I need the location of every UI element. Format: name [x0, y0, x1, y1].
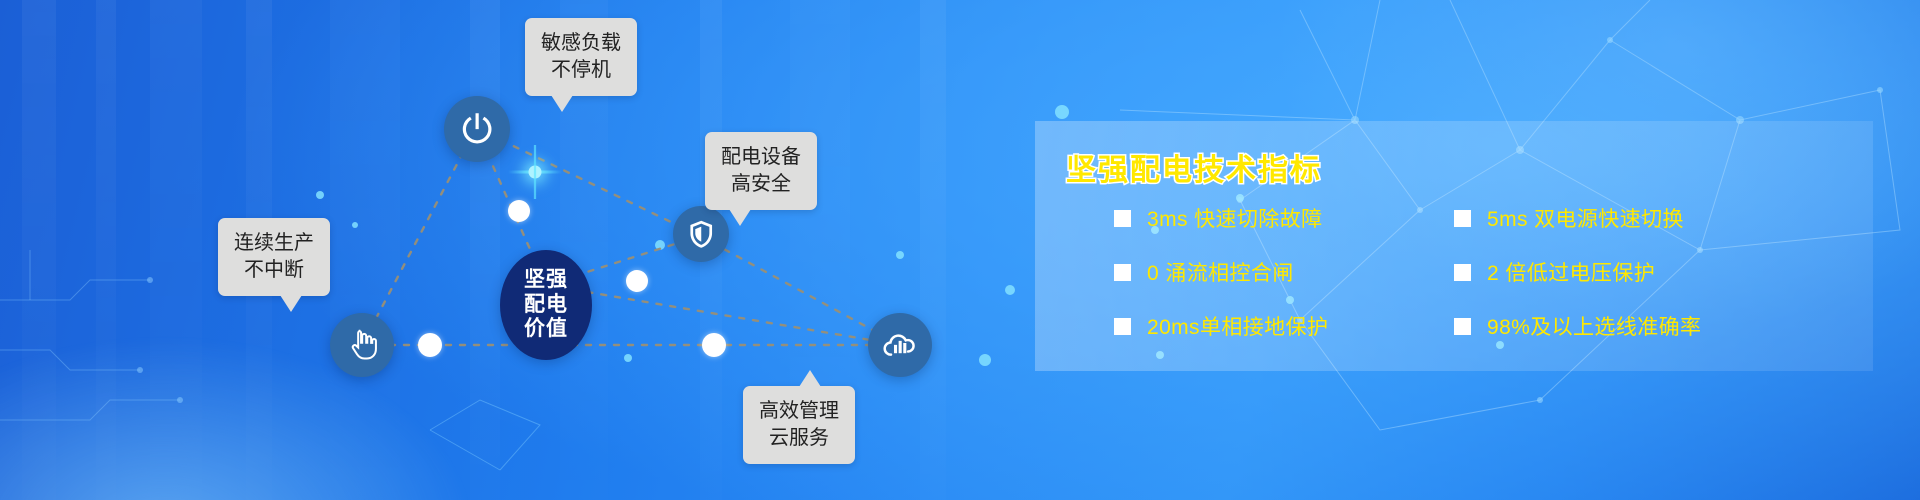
link-dot — [508, 200, 530, 222]
callout-line1: 高效管理 — [759, 398, 839, 425]
callout-equipment-safety: 配电设备 高安全 — [705, 132, 817, 210]
shield-icon — [685, 218, 717, 250]
indicator-label: 2 倍低过电压保护 — [1487, 257, 1655, 287]
link-dot — [418, 333, 442, 357]
cloud-chart-icon — [881, 326, 918, 363]
indicator-label: 20ms单相接地保护 — [1147, 311, 1328, 341]
power-icon — [458, 110, 496, 148]
callout-sensitive-load: 敏感负载 不停机 — [525, 18, 637, 96]
indicator-item: 0 涌流相控合闸 — [1114, 257, 1454, 287]
indicator-label: 5ms 双电源快速切换 — [1487, 203, 1684, 233]
indicator-item: 20ms单相接地保护 — [1114, 311, 1454, 341]
indicator-label: 98%及以上选线准确率 — [1487, 311, 1701, 341]
center-node-label: 坚强配电价值 — [524, 268, 568, 342]
callout-line1: 连续生产 — [234, 230, 314, 257]
indicator-item: 5ms 双电源快速切换 — [1454, 203, 1863, 233]
indicator-item: 2 倍低过电压保护 — [1454, 257, 1863, 287]
bullet-square-icon — [1454, 264, 1471, 281]
node-cloud-chart[interactable] — [868, 313, 932, 377]
indicator-item: 98%及以上选线准确率 — [1454, 311, 1863, 341]
bullet-square-icon — [1114, 264, 1131, 281]
callout-line1: 敏感负载 — [541, 30, 621, 57]
node-power[interactable] — [444, 96, 510, 162]
bullet-square-icon — [1454, 318, 1471, 335]
sparkle-icon — [508, 145, 562, 199]
bullet-square-icon — [1454, 210, 1471, 227]
panel-title: 坚强配电技术指标 — [1066, 145, 1322, 189]
indicator-list: 3ms 快速切除故障 5ms 双电源快速切换 0 涌流相控合闸 2 倍低过电压保… — [1114, 203, 1863, 341]
bullet-square-icon — [1114, 318, 1131, 335]
callout-line2: 云服务 — [759, 425, 839, 452]
indicator-label: 3ms 快速切除故障 — [1147, 203, 1323, 233]
diagram-links — [0, 0, 1020, 500]
center-node[interactable]: 坚强配电价值 — [500, 250, 592, 360]
link-dot — [626, 270, 648, 292]
value-diagram: 坚强配电价值 敏感负载 不停机 配电设备 高安全 连续生产 不中断 高效管理 云… — [0, 0, 1020, 500]
callout-line2: 不中断 — [234, 257, 314, 284]
indicator-item: 3ms 快速切除故障 — [1114, 203, 1454, 233]
bullet-square-icon — [1114, 210, 1131, 227]
callout-line2: 不停机 — [541, 57, 621, 84]
callout-line1: 配电设备 — [721, 144, 801, 171]
node-hand-pointer[interactable] — [330, 313, 394, 377]
banner-stage: 坚强配电价值 敏感负载 不停机 配电设备 高安全 连续生产 不中断 高效管理 云… — [0, 0, 1920, 500]
callout-continuous-production: 连续生产 不中断 — [218, 218, 330, 296]
hand-pointer-icon — [343, 326, 380, 363]
node-shield[interactable] — [673, 206, 729, 262]
tech-indicators-panel: 坚强配电技术指标 3ms 快速切除故障 5ms 双电源快速切换 0 涌流相控合闸… — [1035, 121, 1873, 371]
callout-cloud-service: 高效管理 云服务 — [743, 386, 855, 464]
link-dot — [702, 333, 726, 357]
indicator-label: 0 涌流相控合闸 — [1147, 257, 1294, 287]
callout-line2: 高安全 — [721, 171, 801, 198]
